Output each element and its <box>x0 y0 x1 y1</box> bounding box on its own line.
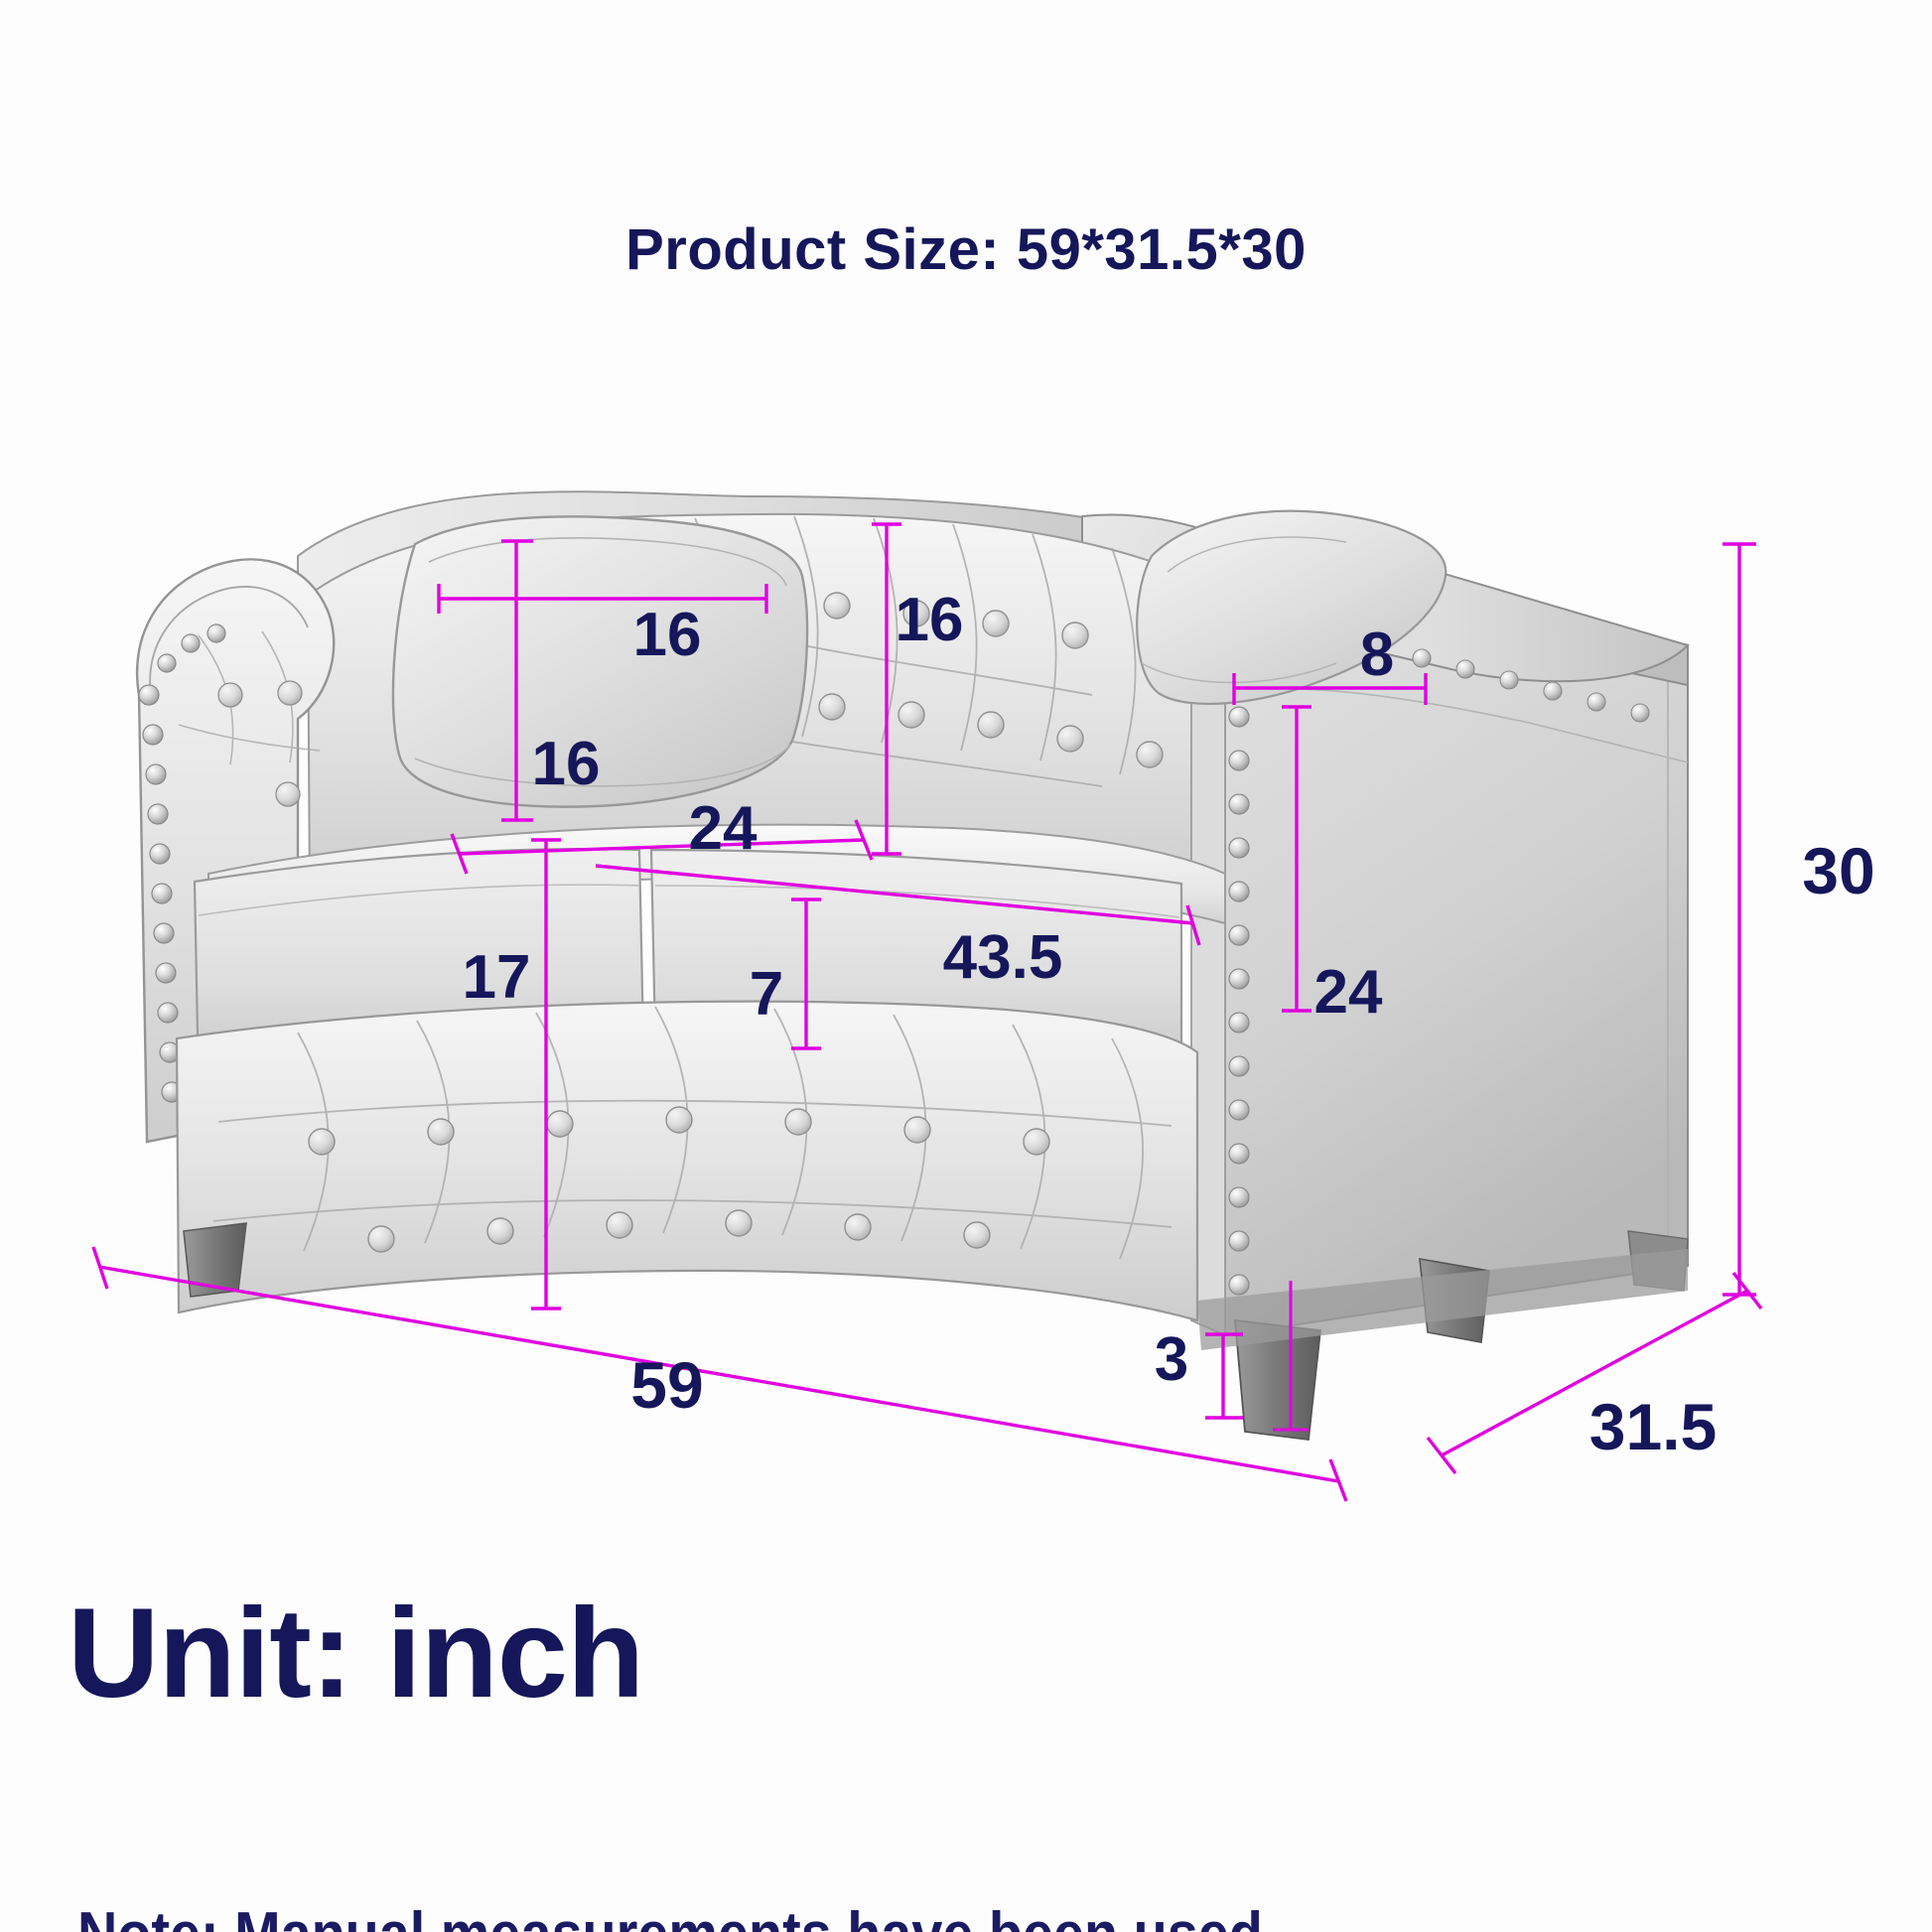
sofa-front-base <box>177 1002 1197 1320</box>
dimension-label-leg-height: 3 <box>1155 1325 1188 1394</box>
dimension-label-seat-depth: 24 <box>689 794 758 863</box>
dimension-label-seat-height: 17 <box>463 943 531 1012</box>
dimension-label-arm-width: 8 <box>1360 621 1394 689</box>
measurement-note: Note: Manual measurements have been used… <box>77 1762 1263 1932</box>
dimension-label-cushion-thickness: 7 <box>750 960 783 1029</box>
unit-label: Unit: inch <box>68 1581 643 1726</box>
dimension-label-total-height: 30 <box>1802 834 1874 907</box>
dimension-label-pillow-height: 16 <box>532 730 601 798</box>
dimension-label-back-height: 16 <box>896 586 964 654</box>
accent-pillow-left <box>393 516 807 806</box>
dimension-label-total-width: 59 <box>630 1348 703 1422</box>
note-line-1: Note: Manual measurements have been used <box>77 1900 1263 1932</box>
dimension-label-arm-height: 24 <box>1314 958 1383 1027</box>
dimension-label-total-depth: 31.5 <box>1589 1390 1717 1463</box>
dimension-label-pillow-width: 16 <box>633 601 702 669</box>
dimension-line-total-height <box>1723 544 1756 1295</box>
dimension-label-seat-width: 43.5 <box>943 923 1063 992</box>
product-dimension-diagram: Product Size: 59*31.5*30 <box>0 0 1932 1932</box>
